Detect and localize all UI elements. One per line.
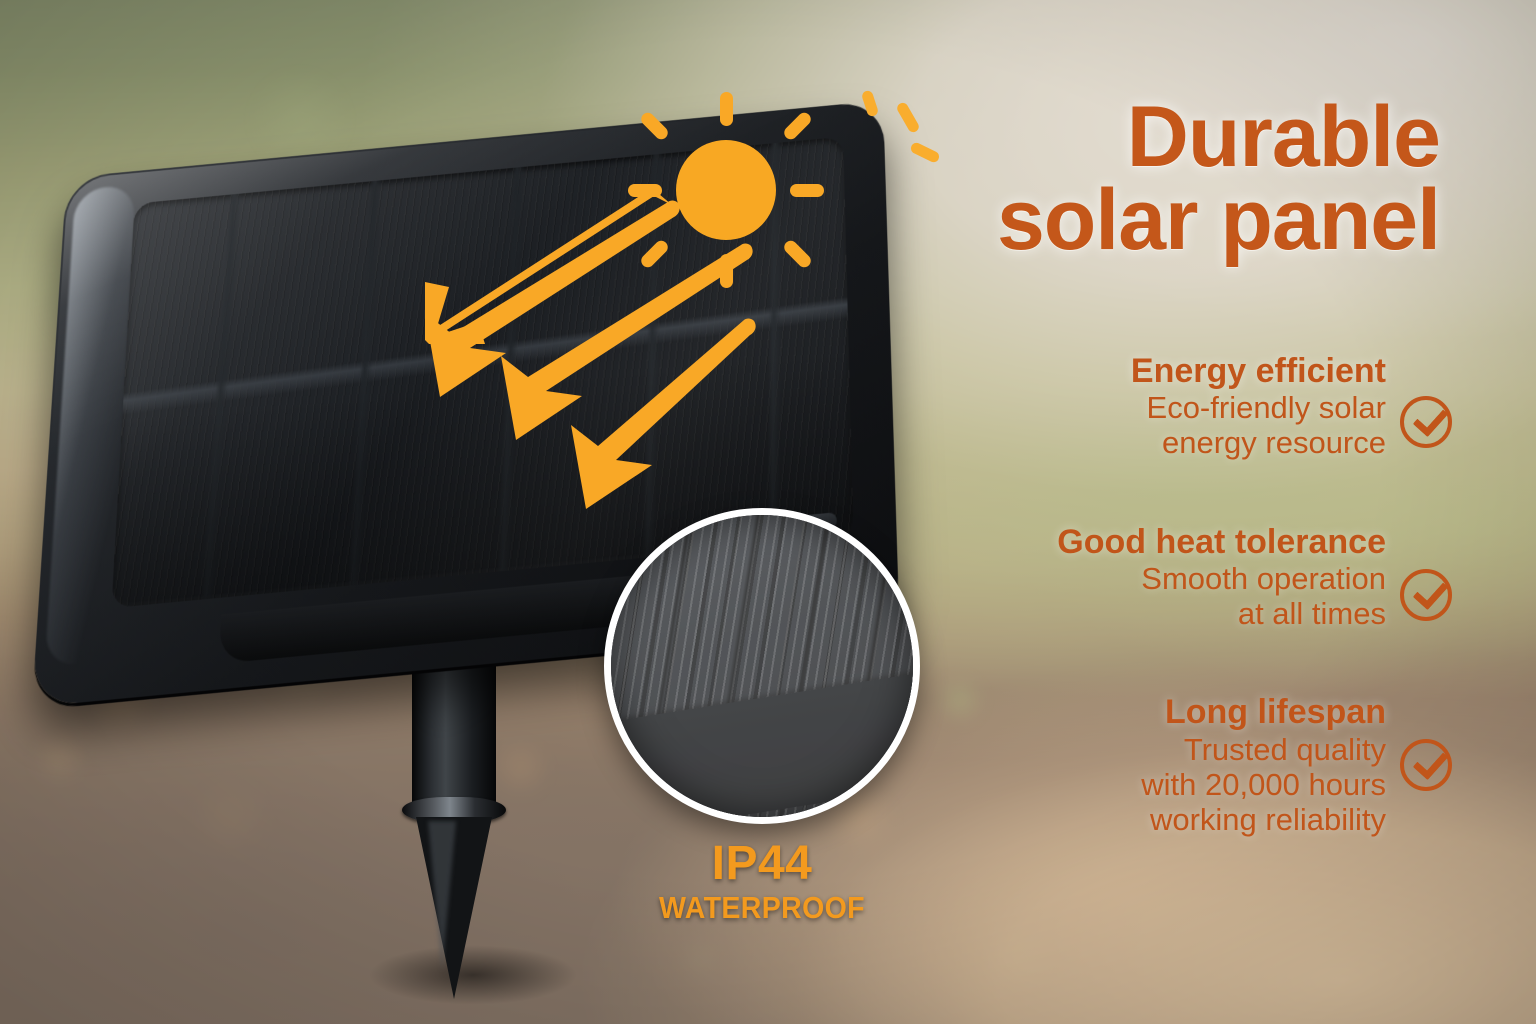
feature-description: Trusted quality with 20,000 hours workin…: [956, 732, 1386, 838]
feature-item-energy-efficient: Energy efficient Eco-friendly solar ener…: [956, 352, 1496, 461]
sun-icon: [626, 90, 826, 290]
product-marketing-banner: IP44 WATERPROOF Durable solar panel Ener…: [0, 0, 1536, 1024]
closeup-vignette: [611, 515, 913, 817]
feature-desc-line: working reliability: [956, 802, 1386, 837]
feature-item-long-lifespan: Long lifespan Trusted quality with 20,00…: [956, 693, 1496, 837]
feature-title: Good heat tolerance: [956, 523, 1386, 561]
feature-desc-line: at all times: [956, 596, 1386, 631]
feature-desc-line: Trusted quality: [956, 732, 1386, 767]
sun-ray: [628, 184, 662, 197]
feature-description: Smooth operation at all times: [956, 561, 1386, 632]
page-title: Durable solar panel: [800, 96, 1440, 261]
sun-ray: [720, 92, 733, 126]
waterproof-caption: WATERPROOF: [617, 892, 908, 923]
ip-rating-text: IP44: [604, 840, 920, 888]
feature-desc-line: Smooth operation: [956, 561, 1386, 596]
check-circle-icon: [1400, 569, 1452, 621]
headline-line-1: Durable: [800, 96, 1440, 179]
check-circle-icon: [1400, 396, 1452, 448]
panel-closeup-magnifier: [604, 508, 920, 824]
feature-title: Energy efficient: [956, 352, 1386, 390]
feature-desc-line: with 20,000 hours: [956, 767, 1386, 802]
feature-desc-line: Eco-friendly solar: [956, 390, 1386, 425]
stake-spike-highlight: [428, 821, 456, 971]
sun-ray: [720, 254, 733, 288]
waterproof-badge: IP44 WATERPROOF: [604, 840, 920, 923]
headline-line-2: solar panel: [800, 179, 1440, 262]
feature-list: Energy efficient Eco-friendly solar ener…: [956, 352, 1496, 878]
feature-description: Eco-friendly solar energy resource: [956, 390, 1386, 461]
feature-title: Long lifespan: [956, 693, 1386, 731]
sun-ray: [639, 110, 671, 142]
feature-item-heat-tolerance: Good heat tolerance Smooth operation at …: [956, 523, 1496, 632]
feature-desc-line: energy resource: [956, 425, 1386, 460]
sun-disc: [676, 140, 776, 240]
sun-ray: [639, 238, 671, 270]
